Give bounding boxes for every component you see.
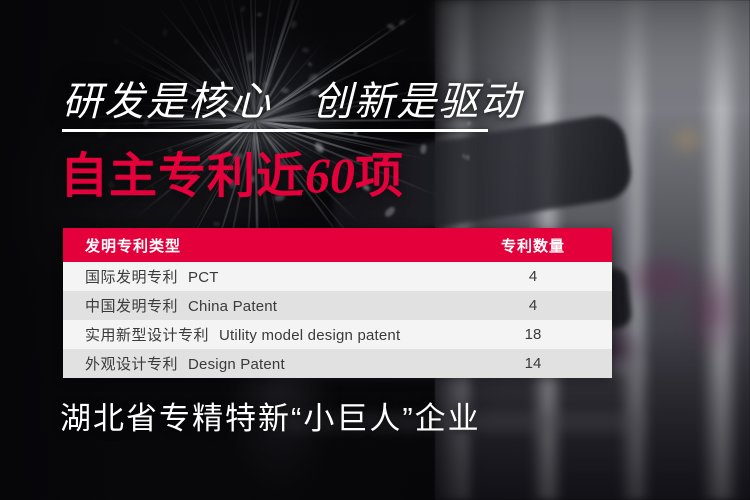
subtitle-prefix: 自主专利近 bbox=[60, 150, 305, 203]
cell-patent-count: 4 bbox=[458, 268, 612, 285]
column-header-count: 专利数量 bbox=[458, 235, 612, 256]
cell-patent-type: 中国发明专利China Patent bbox=[63, 295, 458, 316]
page-title: 研发是核心 创新是驱动 bbox=[62, 79, 522, 125]
table-row: 国际发明专利PCT4 bbox=[63, 262, 612, 291]
subtitle-suffix: 项 bbox=[355, 150, 404, 203]
banner-content: 研发是核心 创新是驱动 自主专利近60项 发明专利类型 专利数量 国际发明专利P… bbox=[0, 0, 750, 500]
title-divider bbox=[62, 129, 488, 132]
headline-part-1: 研发是核心 bbox=[62, 80, 272, 124]
table-row: 外观设计专利Design Patent14 bbox=[63, 349, 612, 378]
column-header-type: 发明专利类型 bbox=[63, 235, 458, 256]
cell-patent-type: 外观设计专利Design Patent bbox=[63, 353, 458, 374]
table-row: 实用新型设计专利Utility model design patent18 bbox=[63, 320, 612, 349]
table-body: 国际发明专利PCT4中国发明专利China Patent4实用新型设计专利Uti… bbox=[63, 262, 612, 378]
patent-type-en: China Patent bbox=[188, 298, 277, 315]
table-header-row: 发明专利类型 专利数量 bbox=[63, 228, 612, 262]
banner-stage: 研发是核心 创新是驱动 自主专利近60项 发明专利类型 专利数量 国际发明专利P… bbox=[0, 0, 750, 500]
cell-patent-type: 国际发明专利PCT bbox=[63, 266, 458, 287]
cell-patent-count: 14 bbox=[458, 355, 612, 372]
patent-type-en: Design Patent bbox=[188, 356, 285, 373]
cell-patent-type: 实用新型设计专利Utility model design patent bbox=[63, 324, 458, 345]
table-row: 中国发明专利China Patent4 bbox=[63, 291, 612, 320]
patent-type-en: PCT bbox=[188, 269, 219, 286]
cell-patent-count: 4 bbox=[458, 297, 612, 314]
patent-type-cn: 中国发明专利 bbox=[85, 298, 178, 315]
patent-type-cn: 国际发明专利 bbox=[85, 269, 178, 286]
footer-caption: 湖北省专精特新“小巨人”企业 bbox=[60, 399, 481, 439]
patent-type-cn: 外观设计专利 bbox=[85, 356, 178, 373]
patent-count-number: 60 bbox=[305, 147, 355, 203]
patent-type-cn: 实用新型设计专利 bbox=[85, 327, 209, 344]
patent-type-en: Utility model design patent bbox=[219, 327, 400, 344]
patent-table: 发明专利类型 专利数量 国际发明专利PCT4中国发明专利China Patent… bbox=[63, 228, 612, 378]
cell-patent-count: 18 bbox=[458, 326, 612, 343]
headline-part-2: 创新是驱动 bbox=[312, 80, 522, 124]
highlight-subtitle: 自主专利近60项 bbox=[60, 146, 404, 206]
